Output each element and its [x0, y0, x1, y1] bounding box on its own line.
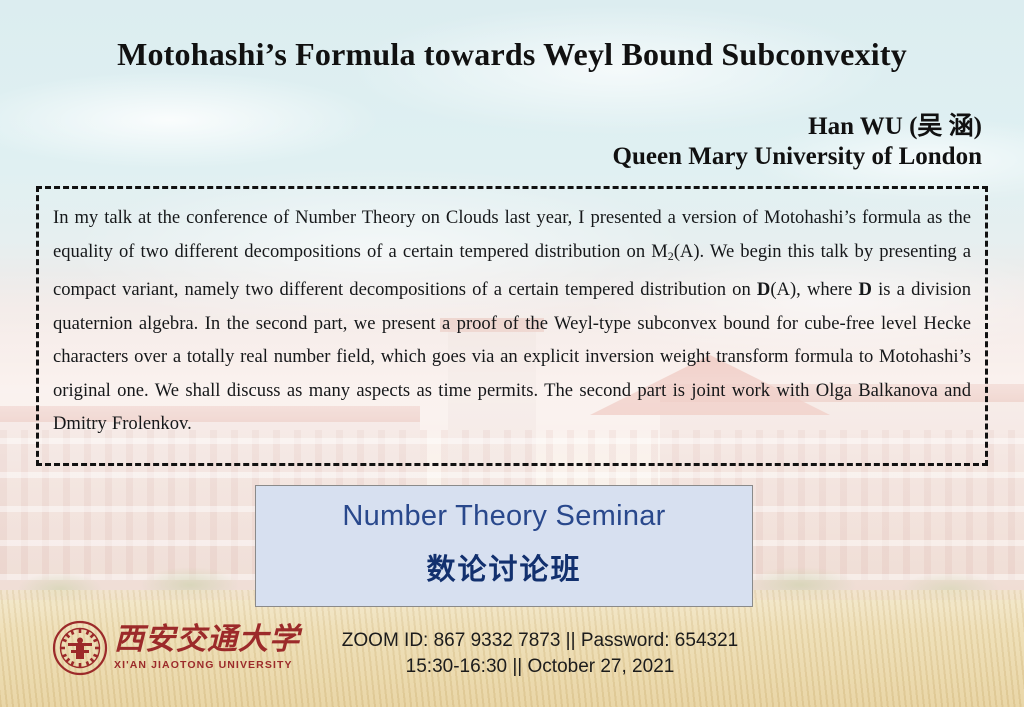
meeting-info: ZOOM ID: 867 9332 7873 || Password: 6543…: [330, 628, 750, 680]
page-title: Motohashi’s Formula towards Weyl Bound S…: [0, 36, 1024, 73]
abstract-bold-d-1: D: [757, 279, 770, 300]
speaker-name: Han WU (吴 涵): [613, 112, 982, 142]
seminar-title-box: Number Theory Seminar 数论讨论班: [255, 485, 753, 607]
meeting-time-line: 15:30-16:30 || October 27, 2021: [330, 654, 750, 680]
university-logo-text: 西安交通大学 XI'AN JIAOTONG UNIVERSITY: [114, 625, 300, 671]
speaker-affiliation: Queen Mary University of London: [613, 142, 982, 172]
seminar-name-chinese: 数论讨论班: [256, 546, 752, 588]
zoom-credentials-line: ZOOM ID: 867 9332 7873 || Password: 6543…: [330, 628, 750, 654]
speaker-block: Han WU (吴 涵) Queen Mary University of Lo…: [613, 112, 982, 171]
poster-content: Motohashi’s Formula towards Weyl Bound S…: [0, 0, 1024, 707]
university-name-chinese: 西安交通大学: [114, 625, 300, 655]
abstract-part-4: is a division quaternion algebra. In the…: [53, 279, 971, 434]
seminar-name-english: Number Theory Seminar: [256, 500, 752, 533]
abstract-bold-d-2: D: [859, 279, 872, 300]
abstract-box: In my talk at the conference of Number T…: [36, 186, 988, 466]
abstract-part-3: (A), where: [770, 279, 858, 300]
seminar-poster: Motohashi’s Formula towards Weyl Bound S…: [0, 0, 1024, 707]
abstract-text: In my talk at the conference of Number T…: [53, 201, 971, 441]
university-name-english: XI'AN JIAOTONG UNIVERSITY: [114, 659, 300, 671]
university-logo: 西安交通大学 XI'AN JIAOTONG UNIVERSITY: [52, 617, 302, 679]
xjtu-seal-icon: [52, 620, 108, 676]
